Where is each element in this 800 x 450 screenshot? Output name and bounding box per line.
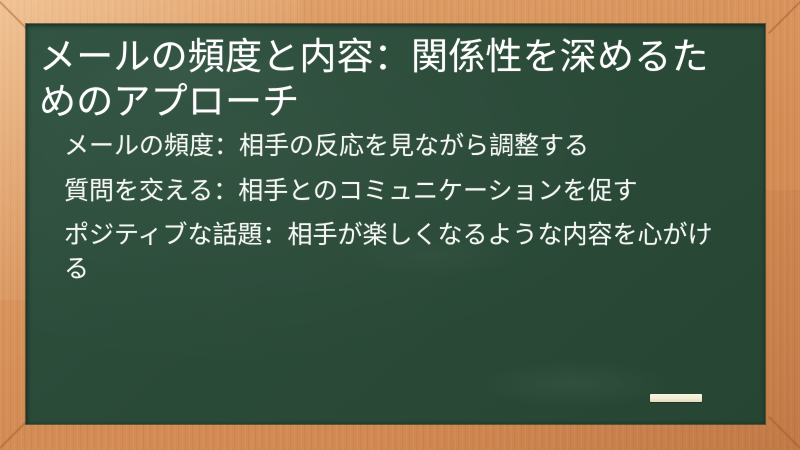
bullet-item-2: 質問を交える：相手とのコミュニケーションを促す (64, 175, 731, 209)
slide-content: メールの頻度と内容：関係性を深めるためのアプローチ メールの頻度：相手の反応を見… (26, 24, 765, 424)
chalk-stick-icon (650, 394, 702, 402)
slide-bullet-list: メールの頻度：相手の反応を見ながら調整する 質問を交える：相手とのコミュニケーシ… (38, 130, 731, 286)
frame-mitre-joint-bottom-right (768, 416, 800, 450)
chalkboard-surface: メールの頻度と内容：関係性を深めるためのアプローチ メールの頻度：相手の反応を見… (26, 24, 765, 424)
slide-canvas: メールの頻度と内容：関係性を深めるためのアプローチ メールの頻度：相手の反応を見… (0, 0, 800, 450)
frame-mitre-joint-top-right (768, 0, 800, 34)
slide-title: メールの頻度と内容：関係性を深めるためのアプローチ (38, 34, 731, 124)
bullet-item-3: ポジティブな話題：相手が楽しくなるような内容を心がける (64, 219, 731, 286)
bullet-item-1: メールの頻度：相手の反応を見ながら調整する (64, 130, 731, 164)
